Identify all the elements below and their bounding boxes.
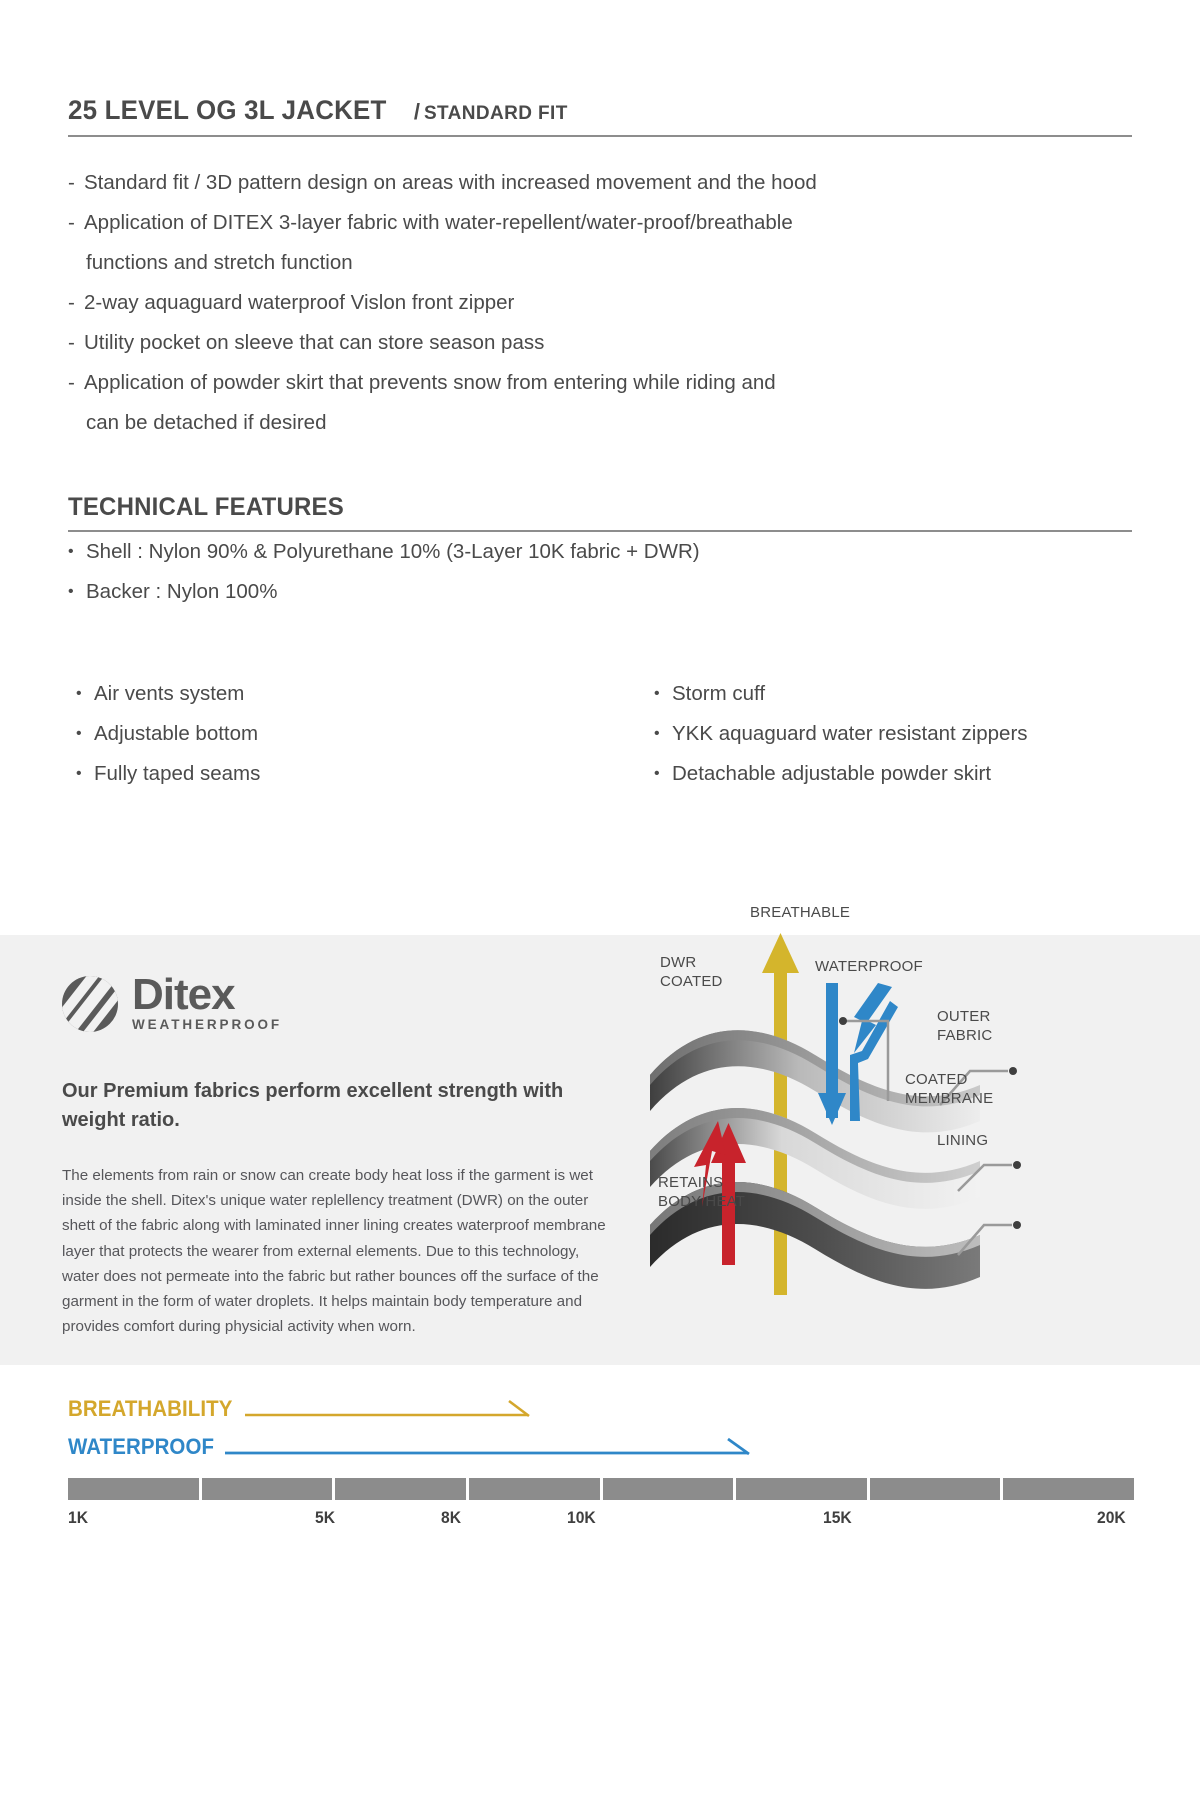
diagram-label-breathable: BREATHABLE	[750, 903, 850, 922]
diagram-label-dwr-line2: COATED	[660, 972, 723, 991]
scale-tick-labels: 1K 5K 8K 10K 15K 20K	[68, 1508, 1134, 1538]
dash-marker: -	[68, 203, 84, 243]
ditex-logo-tagline: WEATHERPROOF	[132, 1017, 282, 1032]
dash-marker: -	[68, 163, 84, 203]
product-feature-list: - Standard fit / 3D pattern design on ar…	[68, 137, 1132, 443]
list-item-label: Storm cuff	[672, 674, 765, 714]
list-item-label: Fully taped seams	[94, 754, 260, 794]
technical-features-heading: TECHNICAL FEATURES	[68, 493, 1132, 532]
fabric-layer-diagram: BREATHABLE WATERPROOF DWR COATED RETAINS…	[640, 925, 1200, 1365]
scale-segment	[469, 1478, 600, 1500]
bullet-icon: •	[654, 674, 672, 714]
diagram-label-dwr-line1: DWR	[660, 953, 723, 972]
list-item-label: Shell : Nylon 90% & Polyurethane 10% (3-…	[86, 532, 700, 572]
scale-segment	[335, 1478, 466, 1500]
scale-segment	[1003, 1478, 1134, 1500]
list-item-label: Utility pocket on sleeve that can store …	[84, 323, 1132, 363]
list-item-label: can be detached if desired	[84, 403, 1132, 443]
list-item: • Air vents system	[76, 674, 604, 714]
list-item-label: 2-way aquaguard waterproof Vislon front …	[84, 283, 1132, 323]
scale-segment	[736, 1478, 867, 1500]
dash-marker: -	[68, 323, 84, 363]
feature-column-right: • Storm cuff • YKK aquaguard water resis…	[604, 674, 1182, 794]
list-item: - Standard fit / 3D pattern design on ar…	[68, 163, 1132, 203]
technical-feature-columns: • Air vents system • Adjustable bottom •…	[68, 612, 1132, 794]
list-item-label: functions and stretch function	[84, 243, 1132, 283]
list-item: • Storm cuff	[654, 674, 1182, 714]
list-item-label: Adjustable bottom	[94, 714, 258, 754]
materials-list: • Shell : Nylon 90% & Polyurethane 10% (…	[68, 532, 1132, 612]
ditex-headline: Our Premium fabrics perform excellent st…	[62, 1077, 622, 1135]
diagram-label-retains-line1: RETAINS	[658, 1173, 745, 1192]
bullet-icon: •	[76, 754, 94, 794]
list-item-label: Detachable adjustable powder skirt	[672, 754, 991, 794]
breathability-row: BREATHABILITY	[68, 1390, 1134, 1428]
scale-tick: 15K	[823, 1508, 852, 1528]
list-item-label: Standard fit / 3D pattern design on area…	[84, 163, 1132, 203]
product-spec-page: 25 LEVEL OG 3L JACKET / STANDARD FIT - S…	[0, 0, 1200, 1800]
waterproof-label: WATERPROOF	[68, 1434, 214, 1460]
page-title: 25 LEVEL OG 3L JACKET / STANDARD FIT	[68, 0, 1132, 137]
list-item: • Detachable adjustable powder skirt	[654, 754, 1182, 794]
waterproof-row: WATERPROOF	[68, 1428, 1134, 1466]
list-item: - Application of DITEX 3-layer fabric wi…	[68, 203, 1132, 243]
list-item-label: Backer : Nylon 100%	[86, 572, 277, 612]
list-item: can be detached if desired	[68, 403, 1132, 443]
dash-marker: -	[68, 363, 84, 403]
ditex-logo-wordmark: Ditex	[132, 975, 282, 1015]
scale-bar-rows: BREATHABILITY WATERPROOF	[68, 1390, 1134, 1466]
scale-segment	[603, 1478, 734, 1500]
list-item: - Application of powder skirt that preve…	[68, 363, 1132, 403]
diagram-label-dwr-coated: DWR COATED	[660, 953, 723, 991]
bullet-icon: •	[76, 674, 94, 714]
product-spec-section: 25 LEVEL OG 3L JACKET / STANDARD FIT - S…	[0, 0, 1200, 794]
diagram-label-membrane-line2: MEMBRANE	[905, 1089, 993, 1108]
scale-segments	[68, 1478, 1134, 1500]
bullet-icon: •	[654, 714, 672, 754]
list-item: • Adjustable bottom	[76, 714, 604, 754]
breathability-label: BREATHABILITY	[68, 1396, 233, 1422]
list-item-label: Application of powder skirt that prevent…	[84, 363, 1132, 403]
scale-tick: 8K	[441, 1508, 461, 1528]
product-title: 25 LEVEL OG 3L JACKET	[68, 95, 387, 126]
scale-tick: 10K	[567, 1508, 596, 1528]
product-fit: STANDARD FIT	[424, 103, 568, 125]
list-item: functions and stretch function	[68, 243, 1132, 283]
ditex-panel: Ditex WEATHERPROOF Our Premium fabrics p…	[0, 935, 1200, 1365]
diagram-label-waterproof: WATERPROOF	[815, 957, 923, 976]
list-item-label: Application of DITEX 3-layer fabric with…	[84, 203, 1132, 243]
diagram-label-lining: LINING	[937, 1131, 988, 1150]
list-item-label: YKK aquaguard water resistant zippers	[672, 714, 1028, 754]
section-title: TECHNICAL FEATURES	[68, 493, 344, 522]
list-item: • YKK aquaguard water resistant zippers	[654, 714, 1182, 754]
scale-segment	[870, 1478, 1001, 1500]
bullet-icon: •	[654, 754, 672, 794]
performance-scale-chart: BREATHABILITY WATERPROOF	[0, 1390, 1200, 1690]
list-item: - Utility pocket on sleeve that can stor…	[68, 323, 1132, 363]
dash-marker: -	[68, 283, 84, 323]
breathability-arrow-icon	[245, 1399, 535, 1419]
feature-column-left: • Air vents system • Adjustable bottom •…	[76, 674, 604, 794]
list-item: - 2-way aquaguard waterproof Vislon fron…	[68, 283, 1132, 323]
bullet-icon: •	[76, 714, 94, 754]
ditex-logo-mark-icon	[62, 976, 118, 1032]
ditex-logo: Ditex WEATHERPROOF	[62, 975, 282, 1032]
scale-tick: 5K	[315, 1508, 335, 1528]
bullet-icon: •	[68, 532, 86, 572]
bullet-icon: •	[68, 572, 86, 612]
diagram-label-coated-membrane: COATED MEMBRANE	[905, 1070, 993, 1108]
diagram-label-membrane-line1: COATED	[905, 1070, 993, 1089]
scale-segment	[68, 1478, 199, 1500]
scale-tick: 20K	[1097, 1508, 1126, 1528]
diagram-label-outer-line2: FABRIC	[937, 1026, 992, 1045]
diagram-label-retains-body-heat: RETAINS BODY HEAT	[658, 1173, 745, 1211]
ditex-description: The elements from rain or snow can creat…	[62, 1163, 614, 1339]
title-separator: /	[414, 99, 420, 125]
list-item: • Backer : Nylon 100%	[68, 572, 1132, 612]
waterproof-arrow-icon	[225, 1437, 755, 1457]
list-item: • Shell : Nylon 90% & Polyurethane 10% (…	[68, 532, 1132, 572]
fabric-diagram-svg	[640, 925, 1200, 1365]
diagram-label-outer-fabric: OUTER FABRIC	[937, 1007, 992, 1045]
list-item: • Fully taped seams	[76, 754, 604, 794]
list-item-label: Air vents system	[94, 674, 244, 714]
diagram-label-outer-line1: OUTER	[937, 1007, 992, 1026]
diagram-label-retains-line2: BODY HEAT	[658, 1192, 745, 1211]
scale-segment	[202, 1478, 333, 1500]
scale-tick: 1K	[68, 1508, 88, 1528]
